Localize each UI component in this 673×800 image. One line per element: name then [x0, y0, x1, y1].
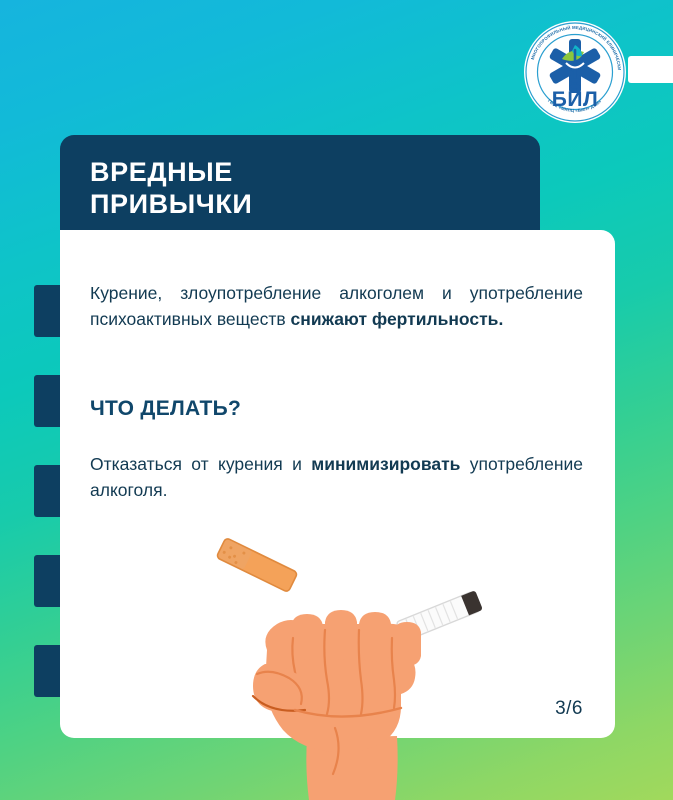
side-tab-3: [34, 465, 62, 517]
svg-text:БИЛ: БИЛ: [552, 88, 598, 111]
subheading-what-to-do: ЧТО ДЕЛАТЬ?: [90, 397, 583, 421]
paragraph-2-text-a: Отказаться от курения и: [90, 454, 311, 474]
poster-root: МНОГОПРОФИЛЬНЫЙ МЕДИЦИНСКИЙ КЛИНИЧЕСКИЙ …: [0, 0, 673, 800]
cigarette-left-piece: [216, 538, 298, 592]
side-tab-1: [34, 285, 62, 337]
paragraph-1-emphasis: снижают фертильность.: [291, 309, 504, 329]
paragraph-smoking-alcohol: Курение, злоупотребление алкоголем и упо…: [90, 280, 583, 333]
paragraph-2-emphasis: минимизировать: [311, 454, 460, 474]
page-indicator: 3/6: [555, 698, 583, 720]
header-panel: ВРЕДНЫЕ ПРИВЫЧКИ: [60, 135, 540, 235]
fist-crushing-cigarette-illustration: [195, 538, 495, 800]
paragraph-recommendation: Отказаться от курения и минимизировать у…: [90, 451, 583, 504]
page-title: ВРЕДНЫЕ ПРИВЫЧКИ: [90, 157, 540, 221]
bil-logo: МНОГОПРОФИЛЬНЫЙ МЕДИЦИНСКИЙ КЛИНИЧЕСКИЙ …: [521, 18, 629, 126]
side-tab-4: [34, 555, 62, 607]
logo-accent-bar: [628, 56, 673, 83]
fist-shape: [253, 610, 421, 800]
side-tab-2: [34, 375, 62, 427]
side-tab-5: [34, 645, 62, 697]
